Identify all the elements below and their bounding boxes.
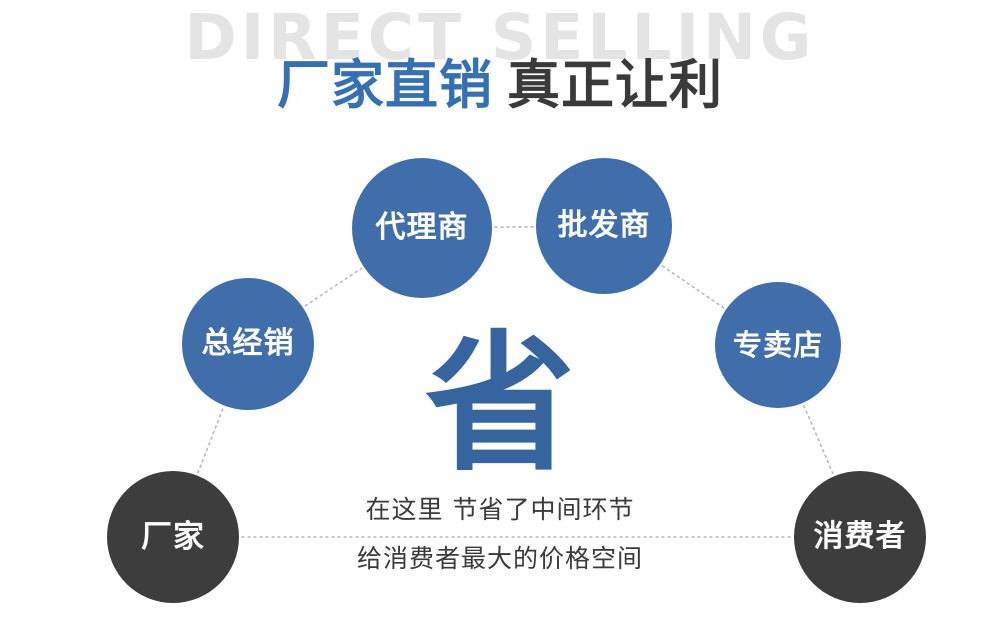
node-consumer[interactable]: 消费者 — [794, 471, 926, 603]
direct-selling-infographic: DIRECT SELLING 厂家直销真正让利 厂家总经销代理商批发商专卖店消费… — [0, 0, 1000, 618]
caption-line-1: 在这里 节省了中间环节 — [0, 494, 1000, 526]
center-glyph: 省 — [0, 330, 1000, 480]
node-manufacturer[interactable]: 厂家 — [107, 471, 239, 603]
node-label: 代理商 — [376, 213, 469, 243]
node-agent[interactable]: 代理商 — [352, 158, 492, 298]
node-wholesaler[interactable]: 批发商 — [536, 158, 672, 294]
connector-general-agent-to-agent — [305, 268, 361, 305]
connector-wholesaler-to-exclusive-store — [663, 266, 724, 308]
node-label: 批发商 — [558, 211, 651, 241]
caption-line-2: 给消费者最大的价格空间 — [0, 543, 1000, 575]
